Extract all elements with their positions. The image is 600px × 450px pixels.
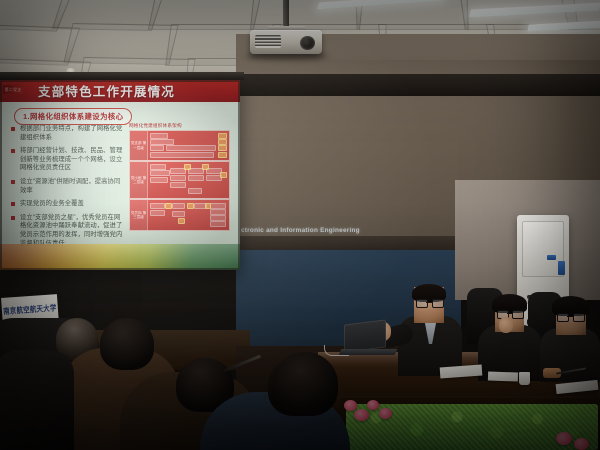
flower <box>556 432 572 445</box>
slide-title: 支部特色工作开展情况 <box>38 82 218 102</box>
foreground-2-head <box>100 318 154 370</box>
flower <box>379 408 392 419</box>
diagram-row-content <box>148 131 229 160</box>
diagram-row-label: 党员岗 第三层级 <box>130 200 148 230</box>
projector-lens-icon <box>300 36 315 50</box>
slide-bullet: 根据部门业务特点，构建了网格化党建组织体系 <box>11 125 123 142</box>
flower <box>574 438 589 450</box>
diagram-row-label: 党小组 第二层级 <box>130 162 148 198</box>
flower <box>367 400 379 410</box>
ac-label <box>558 261 565 275</box>
laptop-power-cable <box>324 345 349 356</box>
diagram-caption: 网格化党建组织体系架构 <box>129 123 182 129</box>
projector-mount-arm <box>283 0 289 28</box>
slide-bullet-list: 根据部门业务特点，构建了网格化党建组织体系 将部门经营计划、技改、民品、管理创新… <box>11 125 123 253</box>
flower <box>344 400 357 411</box>
slide-subtitle: 1.网格化组织体系建设为核心 <box>14 108 132 125</box>
diagram-row: 党支部 第一层级 <box>129 130 230 161</box>
foreground-5-head <box>272 352 338 416</box>
paper-cup <box>519 372 530 385</box>
slide-logo: 第二党支 <box>3 85 23 94</box>
slide-bullet: 实现党员的业务全覆盖 <box>11 200 123 209</box>
projection-screen-mount <box>0 72 244 80</box>
slide-title-bar: 第二党支 支部特色工作开展情况 <box>0 80 240 102</box>
flower <box>354 409 369 421</box>
diagram-row: 党员岗 第三层级 <box>129 199 230 231</box>
presenter-glasses-icon <box>416 299 442 306</box>
slide-footer-gradient <box>0 244 240 270</box>
document-paper <box>488 371 518 381</box>
laptop-screen[interactable] <box>344 319 386 352</box>
slide-bullet: 设立“资源池”供随时调配，提高协同效率 <box>11 178 123 195</box>
apple-logo-icon <box>361 332 368 341</box>
projector-vent <box>255 35 281 48</box>
slide-logo-text: 第二党支 <box>3 85 23 94</box>
attendee-2-glasses-icon <box>497 310 522 317</box>
slide-org-diagram: 网格化党建组织体系架构 党支部 第一层级 <box>129 130 230 231</box>
attendee-3-glasses-icon <box>557 313 583 320</box>
photo-conference-room-presentation: ctronic and Information Engineering 第二党支… <box>0 0 600 450</box>
attendee-2-hand <box>499 317 513 333</box>
diagram-row-label: 党支部 第一层级 <box>130 131 148 160</box>
wall-department-sign: ctronic and Information Engineering <box>241 222 365 239</box>
slide-bullet: 设立“支部党员之星”，优秀党员在网格化资源池中踊跃奉献流动，促进了党员示范作用的… <box>11 214 123 248</box>
chair-back <box>0 350 74 450</box>
projection-screen: 第二党支 支部特色工作开展情况 1.网格化组织体系建设为核心 根据部门业务特点，… <box>0 80 240 270</box>
slide-bullet: 将部门经营计划、技改、民品、管理创新等业务梳理成一个个网格，设立网格化党员责任区 <box>11 147 123 173</box>
diagram-row-content <box>148 162 229 198</box>
ac-badge <box>547 255 556 260</box>
presentation-slide: 第二党支 支部特色工作开展情况 1.网格化组织体系建设为核心 根据部门业务特点，… <box>0 80 240 270</box>
diagram-row-content <box>148 200 229 230</box>
wall-sign-text: ctronic and Information Engineering <box>241 222 365 239</box>
diagram-row: 党小组 第二层级 <box>129 161 230 199</box>
